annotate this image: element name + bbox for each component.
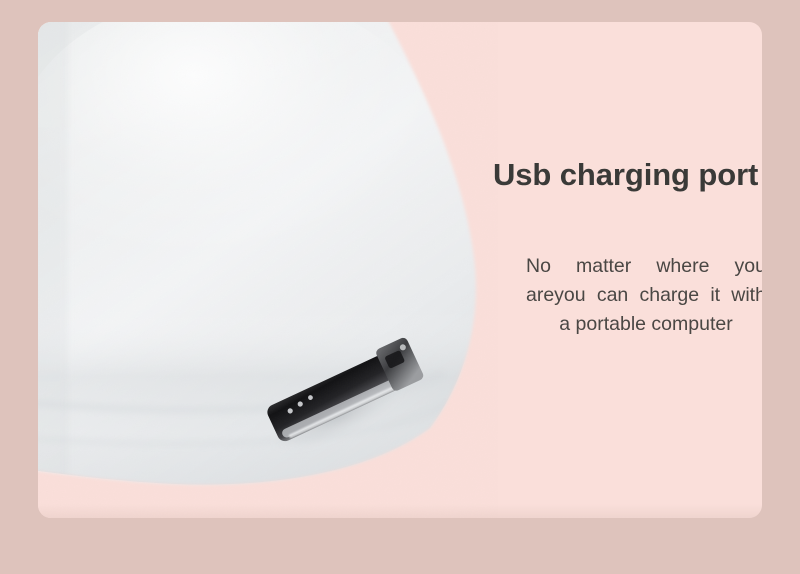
feature-headline: Usb charging port <box>493 158 762 192</box>
description-line-1: No matter where you <box>526 252 762 281</box>
word: charge <box>639 281 699 310</box>
word: where <box>656 252 709 281</box>
product-photo-illustration <box>38 22 498 518</box>
word: with <box>731 281 762 310</box>
outer-frame: Usb charging port No matter where you ar… <box>0 0 800 574</box>
word: No <box>526 252 551 281</box>
feature-text-panel: Usb charging port No matter where you ar… <box>450 22 762 518</box>
description-line-3: a portable computer <box>526 310 762 339</box>
product-photo <box>38 22 498 518</box>
word: it <box>710 281 720 310</box>
word: can <box>597 281 628 310</box>
photo-grain <box>38 22 498 518</box>
product-feature-card: Usb charging port No matter where you ar… <box>38 22 762 518</box>
feature-description: No matter where you areyou can charge it… <box>526 252 762 339</box>
word: you <box>735 252 762 281</box>
description-line-2: areyou can charge it with <box>526 281 762 310</box>
word: matter <box>576 252 631 281</box>
word: areyou <box>526 281 586 310</box>
